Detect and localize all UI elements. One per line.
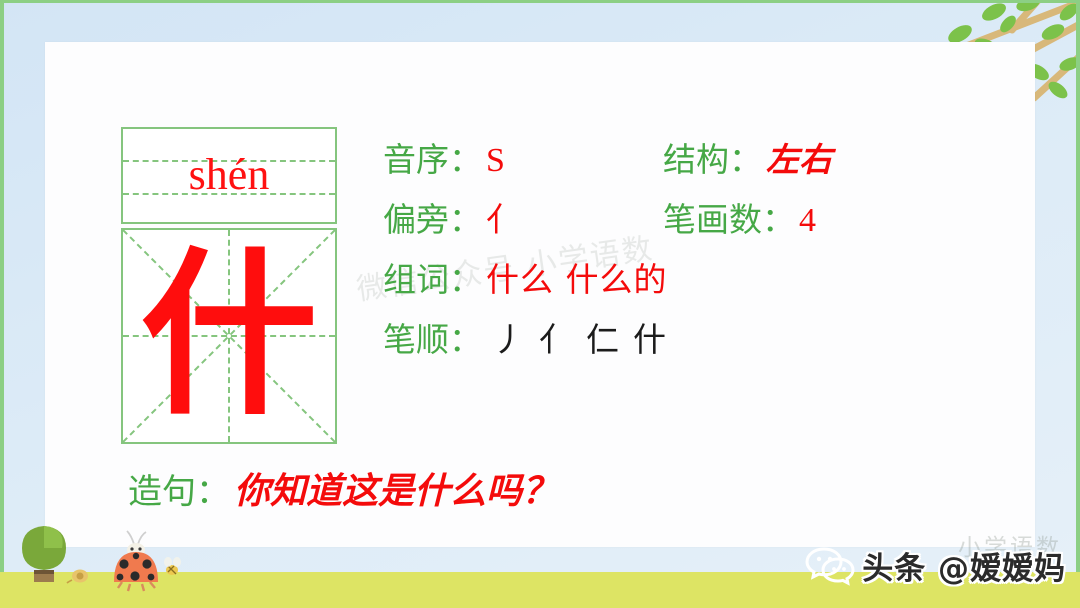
field-bihuashu-label: 笔画数： (663, 193, 795, 241)
info-row-pianpang-bihuashu: 偏旁： 亻 笔画数： 4 (383, 193, 983, 253)
character-glyph: 什 (123, 230, 335, 442)
field-zuci-label: 组词： (383, 253, 482, 301)
field-jiegou-label: 结构： (663, 133, 762, 181)
info-row-yinxu-jiegou: 音序： S 结构： 左右 (383, 133, 983, 193)
bush-icon (22, 526, 66, 582)
sentence-value: 你知道这是什么吗？ (234, 462, 558, 514)
field-pianpang: 偏旁： 亻 (383, 193, 663, 241)
snail-icon (67, 570, 88, 584)
field-pianpang-label: 偏旁： (383, 193, 482, 241)
field-bishun-label: 笔顺： (383, 313, 482, 361)
field-bihuashu: 笔画数： 4 (663, 193, 816, 241)
slide-canvas: 微信公众号 小学语数 shén 什 音序： S 结构： 左右 (0, 0, 1080, 608)
pinyin-grid: shén (121, 127, 337, 224)
field-zuci-value: 什么 什么的 (486, 253, 668, 301)
character-grid: 什 (121, 228, 337, 444)
field-yinxu: 音序： S (383, 133, 663, 181)
ladybug-icon (114, 531, 158, 591)
info-row-zuci: 组词： 什么 什么的 (383, 253, 983, 313)
left-border-line (0, 0, 4, 608)
pinyin-text: shén (123, 129, 335, 222)
bee-icon (164, 557, 181, 575)
info-row-bishun: 笔顺： 丿亻仁什 (383, 313, 983, 373)
branding-block: 头条 @嫒嫒妈 (804, 538, 1066, 592)
field-bihuashu-value: 4 (799, 202, 816, 240)
top-border-line (0, 0, 1080, 3)
field-bishun-value: 丿亻仁什 (492, 313, 680, 361)
field-jiegou-value: 左右 (766, 133, 832, 181)
decor-critters (14, 514, 224, 594)
info-panel: 音序： S 结构： 左右 偏旁： 亻 笔画数： 4 组词： 什么 什么的 笔顺： (383, 133, 983, 373)
sentence-row: 造句： 你知道这是什么吗？ (128, 462, 558, 514)
field-jiegou: 结构： 左右 (663, 133, 832, 181)
field-yinxu-label: 音序： (383, 133, 482, 181)
right-border-line (1076, 0, 1080, 608)
brand-main-text: 头条 @嫒嫒妈 (862, 543, 1066, 588)
field-pianpang-value: 亻 (486, 193, 519, 241)
field-yinxu-value: S (486, 142, 505, 180)
wechat-icon (804, 543, 856, 587)
sentence-label: 造句： (128, 464, 230, 513)
